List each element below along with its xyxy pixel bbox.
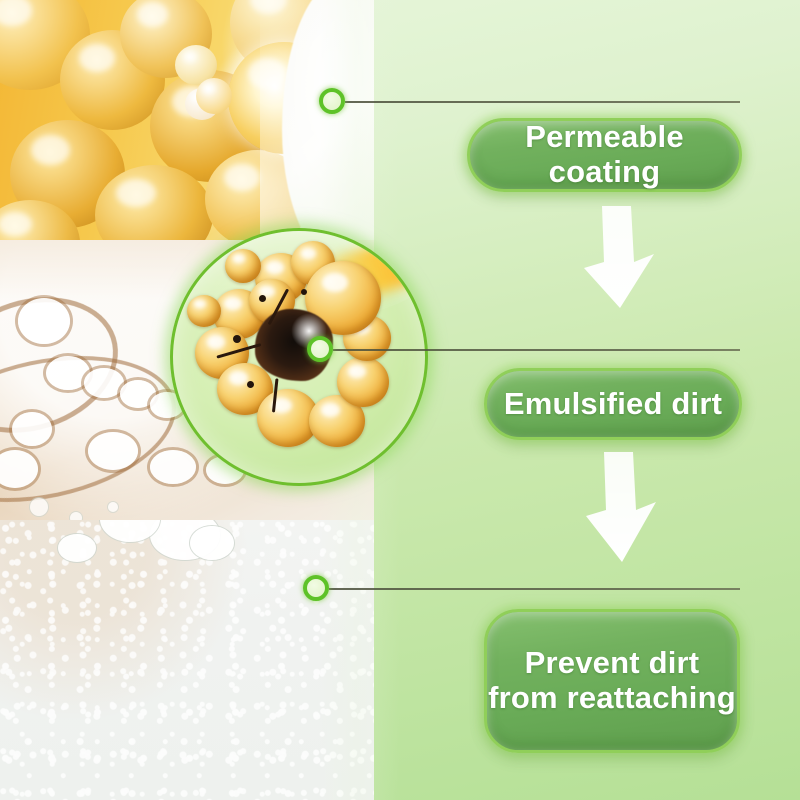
connector-dot-2 (307, 336, 333, 362)
step-label-permeable-coating[interactable]: Permeable coating (467, 118, 742, 192)
connector-dot-1 (319, 88, 345, 114)
magnifier-circle (170, 228, 428, 486)
step-3-line-1: Prevent dirt (525, 645, 700, 680)
white-foam-photo (0, 520, 374, 800)
infographic-canvas: Permeable coating Emulsified dirt Preven… (0, 0, 800, 800)
connector-dot-3 (303, 575, 329, 601)
connector-line-2 (333, 349, 740, 351)
step-label-emulsified-dirt[interactable]: Emulsified dirt (484, 368, 742, 440)
step-1-text: Permeable coating (470, 120, 739, 189)
connector-line-3 (329, 588, 740, 590)
step-3-text: Prevent dirt from reattaching (488, 646, 736, 715)
step-2-text: Emulsified dirt (504, 387, 722, 422)
arrow-down-icon-1 (574, 206, 666, 308)
step-3-line-2: from reattaching (488, 680, 736, 715)
step-label-prevent-dirt-reattaching[interactable]: Prevent dirt from reattaching (484, 609, 740, 753)
oil-bubbles-photo (0, 0, 374, 268)
arrow-down-icon-2 (578, 452, 670, 562)
connector-line-1 (345, 101, 740, 103)
